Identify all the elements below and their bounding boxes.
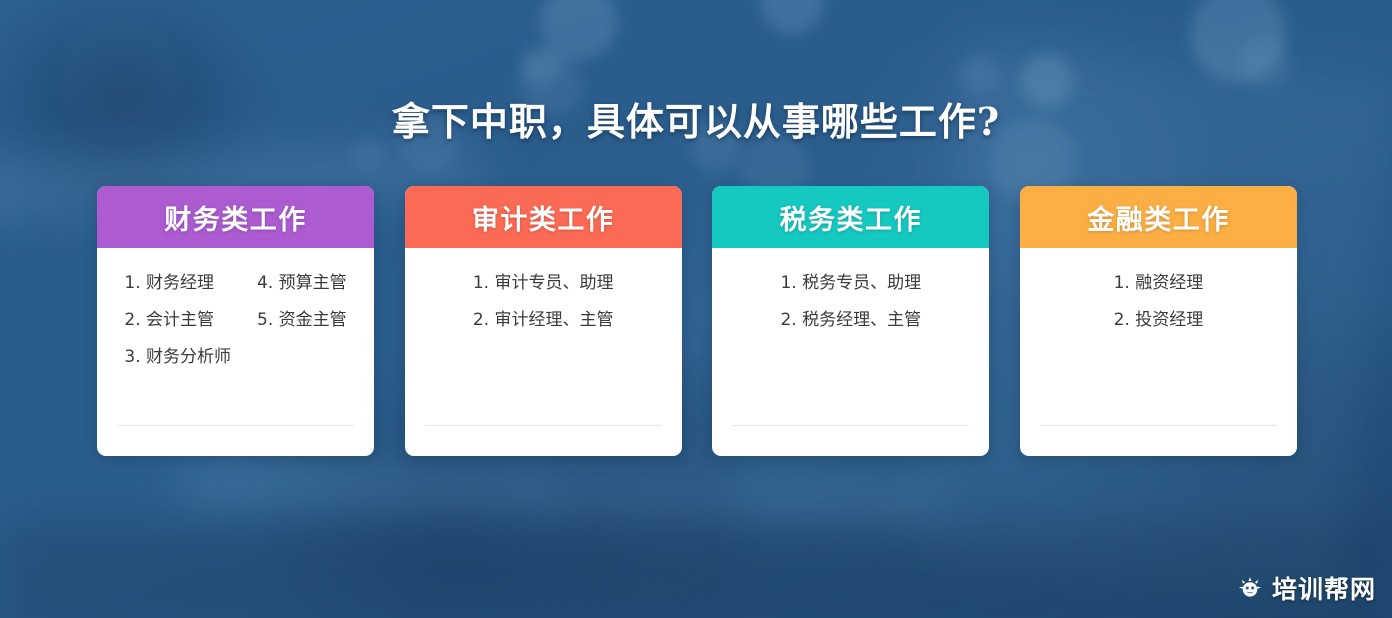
site-watermark: 培训帮网 [1237,570,1376,606]
job-card-audit[interactable]: 审计类工作 1. 审计专员、助理 2. 审计经理、主管 [405,186,682,456]
card-divider [425,425,662,426]
bokeh-dot [1240,36,1292,88]
job-card-body: 1. 审计专员、助理 2. 审计经理、主管 [405,248,682,456]
background-streak [0,520,1392,618]
job-card-title: 审计类工作 [472,198,615,237]
card-divider [732,425,969,426]
slide-canvas: 拿下中职，具体可以从事哪些工作? 财务类工作 1. 财务经理 2. 会计主管 3… [0,0,1392,618]
job-card-header: 税务类工作 [712,186,989,248]
job-card-tax[interactable]: 税务类工作 1. 税务专员、助理 2. 税务经理、主管 [712,186,989,456]
page-title: 拿下中职，具体可以从事哪些工作? [0,91,1392,146]
job-card-finance-banking[interactable]: 金融类工作 1. 融资经理 2. 投资经理 [1020,186,1297,456]
job-list: 1. 财务经理 2. 会计主管 3. 财务分析师 4. 预算主管 5. 资金主管 [117,272,354,369]
job-list-item: 1. 税务专员、助理 [781,272,922,295]
job-card-finance[interactable]: 财务类工作 1. 财务经理 2. 会计主管 3. 财务分析师 4. 预算主管 5… [97,186,374,456]
job-list-item: 1. 审计专员、助理 [473,272,614,295]
job-list-item: 2. 税务经理、主管 [781,309,922,332]
job-list: 1. 税务专员、助理 2. 税务经理、主管 [732,272,969,332]
job-card-header: 金融类工作 [1020,186,1297,248]
job-list-item: 1. 融资经理 [1114,272,1204,295]
job-list-item: 2. 投资经理 [1114,309,1204,332]
watermark-label: 培训帮网 [1272,570,1376,606]
job-card-body: 1. 财务经理 2. 会计主管 3. 财务分析师 4. 预算主管 5. 资金主管 [97,248,374,456]
job-card-body: 1. 融资经理 2. 投资经理 [1020,248,1297,456]
sun-face-icon [1237,575,1263,601]
job-list: 1. 审计专员、助理 2. 审计经理、主管 [425,272,662,332]
job-list-item: 2. 审计经理、主管 [473,309,614,332]
job-list: 1. 融资经理 2. 投资经理 [1040,272,1277,332]
job-list-item: 1. 财务经理 [124,272,231,295]
job-card-header: 财务类工作 [97,186,374,248]
job-card-body: 1. 税务专员、助理 2. 税务经理、主管 [712,248,989,456]
job-list-item: 3. 财务分析师 [124,346,231,369]
job-list-item: 4. 预算主管 [257,272,347,295]
card-divider [1040,425,1277,426]
job-category-card-row: 财务类工作 1. 财务经理 2. 会计主管 3. 财务分析师 4. 预算主管 5… [97,186,1297,456]
job-card-title: 财务类工作 [164,198,307,237]
job-card-title: 税务类工作 [780,198,923,237]
card-divider [117,425,354,426]
job-list-item: 5. 资金主管 [257,309,347,332]
job-card-title: 金融类工作 [1087,198,1230,237]
bokeh-dot [960,56,998,94]
job-card-header: 审计类工作 [405,186,682,248]
job-list-item: 2. 会计主管 [124,309,231,332]
